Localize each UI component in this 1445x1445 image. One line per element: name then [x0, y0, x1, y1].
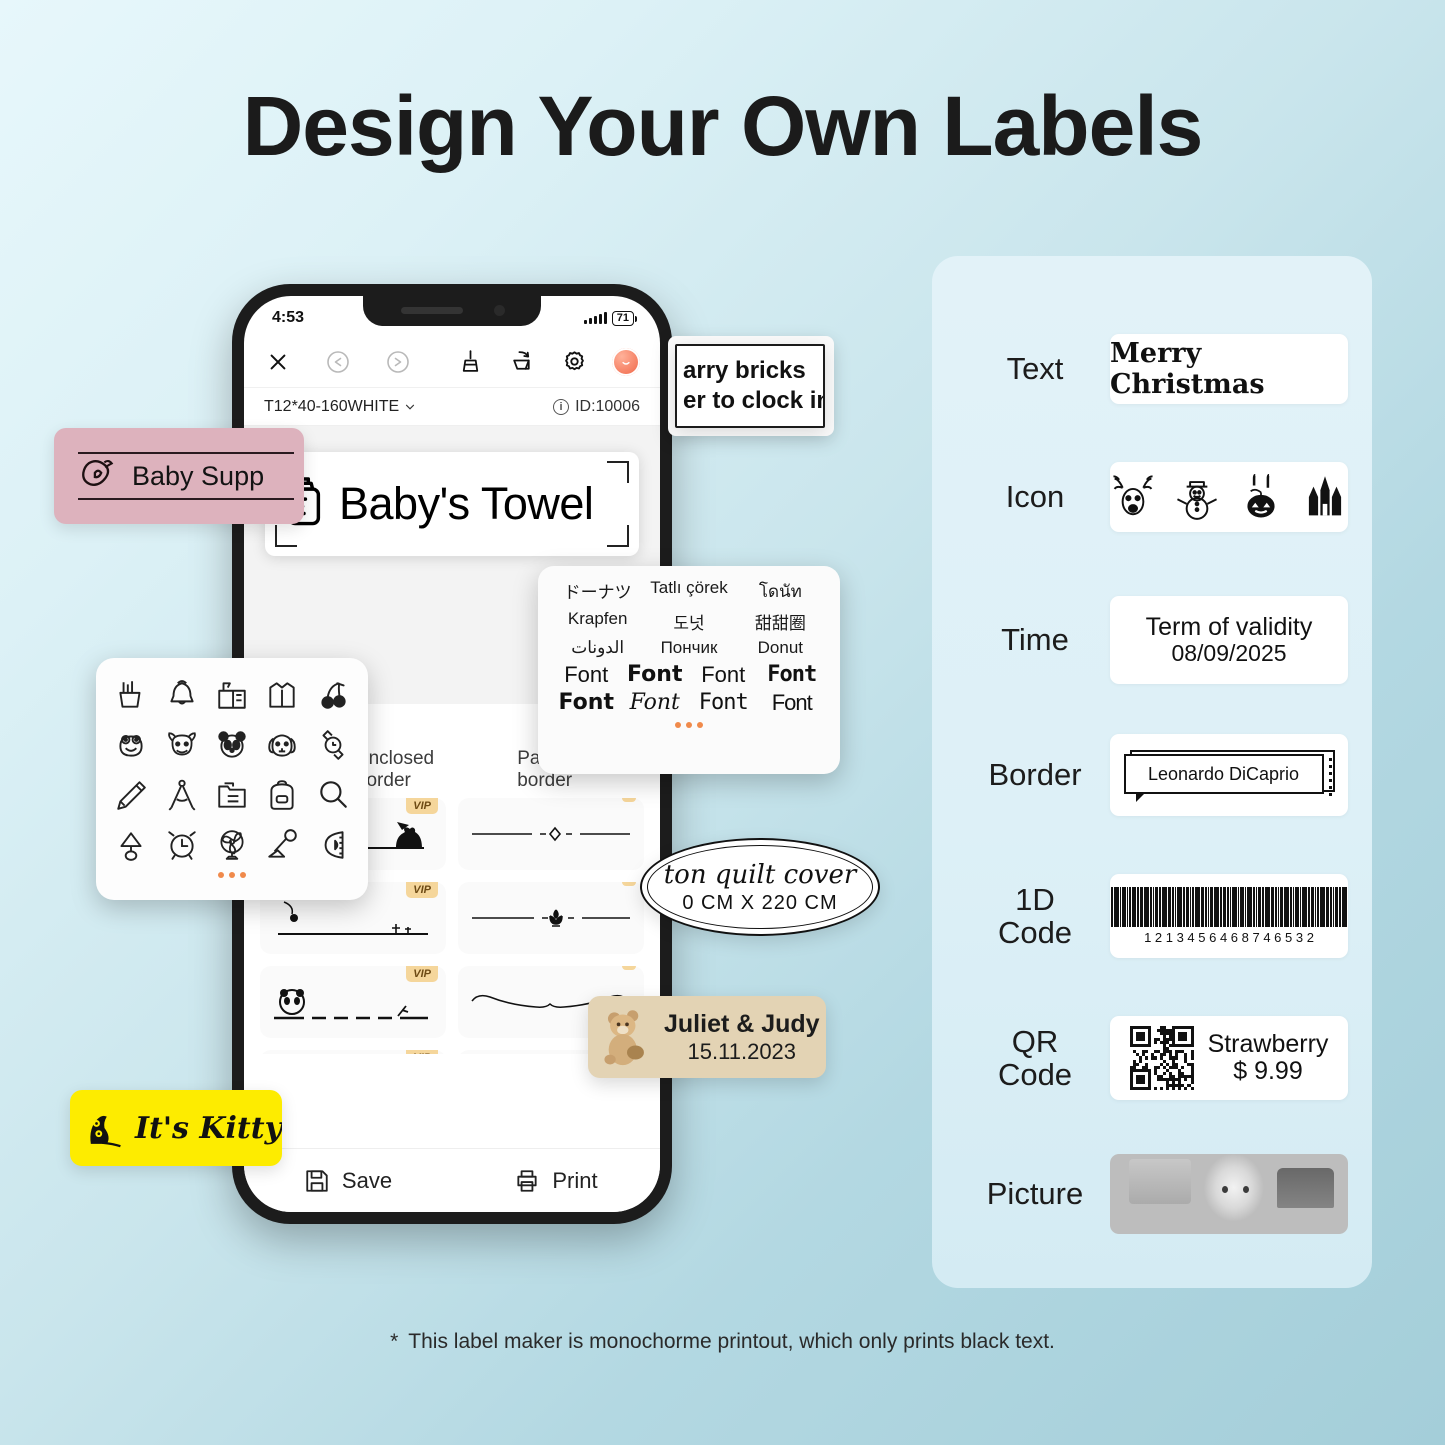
feature-label-icon: Icon	[960, 480, 1110, 513]
font-language-samples: ドーナツ Tatlı çörek โดนัท Krapfen 도넛 甜甜圈 ال…	[552, 578, 826, 658]
font-style-sample[interactable]: Font	[621, 690, 690, 716]
file-folder-icon[interactable]	[209, 772, 255, 818]
vip-badge: VIP	[406, 798, 438, 814]
kitten-photo	[1110, 1154, 1348, 1234]
crop-corner-icon	[607, 461, 629, 483]
barcode-sample: 1 2 1 3 4 5 6 4 6 8 7 4 6 5 3 2	[1111, 887, 1346, 945]
feature-row-picture: Picture	[960, 1154, 1348, 1234]
smiley-icon[interactable]	[612, 348, 640, 376]
font-style-sample[interactable]: Font	[689, 662, 758, 688]
pen-holder-icon[interactable]	[108, 672, 154, 718]
crop-corner-icon	[275, 525, 297, 547]
sticker-baby-text: Baby Supp	[132, 461, 264, 492]
feature-chip-picture	[1110, 1154, 1348, 1234]
close-icon[interactable]	[264, 348, 292, 376]
phone-notch	[363, 296, 541, 326]
font-style-sample[interactable]: Font	[758, 662, 827, 688]
feature-chip-time: Term of validity 08/09/2025	[1110, 596, 1348, 684]
front-camera-icon	[494, 305, 505, 316]
spider-grave-line-icon	[268, 896, 438, 940]
label-preview-card[interactable]: Baby's Towel	[265, 452, 639, 556]
qr-product-name: Strawberry	[1208, 1031, 1329, 1059]
protractor-icon[interactable]	[310, 822, 356, 868]
sticker-rule-bottom	[78, 498, 294, 500]
feature-label-time: Time	[960, 623, 1110, 656]
editor-toolbar	[244, 336, 660, 388]
feature-label-picture: Picture	[960, 1177, 1110, 1210]
redo-icon[interactable]	[384, 348, 412, 376]
feature-label-1d-code: 1D Code	[960, 883, 1110, 950]
font-lang-sample[interactable]: โดนัท	[735, 578, 826, 605]
template-item[interactable]: VIP	[260, 966, 446, 1038]
magnifier-icon[interactable]	[310, 772, 356, 818]
cherry-icon[interactable]	[310, 672, 356, 718]
vip-badge	[622, 798, 636, 802]
font-style-sample[interactable]: Font	[689, 690, 758, 716]
backpack-icon[interactable]	[259, 772, 305, 818]
save-button[interactable]: Save	[244, 1168, 452, 1194]
qr-product-price: $ 9.99	[1233, 1058, 1303, 1086]
speech-tail-icon	[1136, 793, 1145, 802]
template-item[interactable]: VIP	[260, 1050, 446, 1054]
dog-icon[interactable]	[259, 722, 305, 768]
sticker-clock-in: arry bricks er to clock in	[675, 344, 825, 428]
sticker-baby-supplies: Baby Supp	[54, 428, 304, 524]
feature-label-qr-code: QR Code	[960, 1025, 1110, 1092]
editor-bottom-bar: Save Print	[244, 1148, 660, 1212]
footer-note: *This label maker is monochorme printout…	[0, 1330, 1445, 1354]
tape-model-label: T12*40-160WHITE	[264, 398, 399, 416]
sticker-quilt-line2: 0 CM X 220 CM	[682, 892, 837, 915]
qr-code-image	[1130, 1026, 1194, 1090]
table-lamp-icon[interactable]	[108, 822, 154, 868]
footer-note-text: This label maker is monochorme printout,…	[408, 1330, 1055, 1353]
feature-label-qr-line2: Code	[998, 1057, 1072, 1092]
desk-lamp-desk-icon[interactable]	[209, 672, 255, 718]
font-lang-sample[interactable]: 도넛	[643, 609, 734, 634]
reindeer-icon	[1110, 474, 1156, 520]
sticker-kitty-text: It's Kitty	[135, 1111, 282, 1146]
haunted-castle-icon	[1302, 474, 1348, 520]
font-style-sample[interactable]: Font	[758, 690, 827, 716]
time-line1: Term of validity	[1146, 613, 1313, 641]
border-dots	[1329, 758, 1332, 796]
shirt-icon[interactable]	[259, 672, 305, 718]
feature-row-text: Text Merry Christmas	[960, 334, 1348, 404]
tape-meta-row: T12*40-160WHITE i ID:10006	[244, 388, 660, 426]
feature-chip-qrcode: Strawberry $ 9.99	[1110, 1016, 1348, 1100]
sticker-quilt-cover: ton quilt cover 0 CM X 220 CM	[640, 838, 880, 936]
feature-row-time: Time Term of validity 08/09/2025	[960, 596, 1348, 684]
kitten-eye-right	[1243, 1186, 1249, 1193]
feature-row-qrcode: QR Code Strawberry $ 9.99	[960, 1016, 1348, 1100]
feature-row-barcode: 1D Code 1 2 1 3 4 5 6 4 6 8 7 4 6 5 3 2	[960, 874, 1348, 958]
tab-enclosed-border[interactable]: Enclosed border	[356, 748, 491, 792]
font-pager-dots[interactable]	[552, 722, 826, 728]
feature-label-1d-line1: 1D	[1015, 882, 1055, 917]
label-text: Baby's Towel	[339, 478, 593, 530]
sticker-clockin-line2: er to clock in	[683, 386, 823, 416]
vip-badge	[622, 966, 636, 970]
barcode-digits: 1 2 1 3 4 5 6 4 6 8 7 4 6 5 3 2	[1144, 930, 1314, 945]
device-id-label: ID:10006	[575, 398, 640, 416]
font-style-samples: Font Font Font Font Font Font Font Font	[552, 662, 826, 716]
feature-chip-border: Leonardo DiCaprio	[1110, 734, 1348, 816]
compass-icon[interactable]	[158, 772, 204, 818]
feature-label-qr-line1: QR	[1012, 1024, 1059, 1059]
feature-label-1d-line2: Code	[998, 915, 1072, 950]
sticker-juliet-judy: Juliet & Judy 15.11.2023	[588, 996, 826, 1078]
time-line2: 08/09/2025	[1171, 641, 1286, 667]
bell-icon[interactable]	[158, 672, 204, 718]
crop-corner-icon	[607, 525, 629, 547]
pencil-icon[interactable]	[108, 772, 154, 818]
printer-icon	[514, 1168, 540, 1194]
font-style-sample[interactable]: Font	[552, 662, 621, 688]
qr-text: Strawberry $ 9.99	[1208, 1031, 1329, 1086]
sticker-bear-name: Juliet & Judy	[664, 1010, 820, 1039]
text-sample: Merry Christmas	[1110, 338, 1348, 400]
speaker-icon	[401, 307, 463, 314]
save-label: Save	[342, 1168, 392, 1194]
device-id-group[interactable]: i ID:10006	[553, 398, 640, 416]
desk-lamp-icon[interactable]	[259, 822, 305, 868]
frog-icon[interactable]	[108, 722, 154, 768]
tape-selector[interactable]: T12*40-160WHITE	[264, 398, 417, 416]
feature-label-text: Text	[960, 352, 1110, 385]
watch-icon[interactable]	[310, 722, 356, 768]
baby-bib-icon	[76, 455, 118, 497]
cow-icon[interactable]	[158, 722, 204, 768]
kitten-eye-left	[1222, 1186, 1228, 1193]
signal-icon	[584, 312, 607, 324]
font-lang-sample[interactable]: Tatlı çörek	[643, 578, 734, 605]
sticker-quilt-line1: ton quilt cover	[664, 860, 857, 890]
fleur-de-lis-line-icon	[466, 903, 636, 933]
gear-icon[interactable]	[560, 348, 588, 376]
border-sample-art: Leonardo DiCaprio	[1122, 750, 1337, 800]
template-item[interactable]	[458, 798, 644, 870]
info-icon: i	[553, 399, 569, 415]
icon-picker-popup	[96, 658, 368, 900]
icon-pager-dots[interactable]	[108, 872, 356, 878]
status-time: 4:53	[272, 309, 304, 327]
vip-badge: VIP	[406, 1050, 438, 1054]
battery-icon: 71	[612, 311, 634, 326]
print-label: Print	[552, 1168, 597, 1194]
font-lang-sample[interactable]: Krapfen	[552, 609, 643, 634]
template-item[interactable]	[458, 882, 644, 954]
barcode-bars	[1111, 887, 1346, 927]
fan-icon[interactable]	[209, 822, 255, 868]
sticker-its-kitty: It's Kitty	[70, 1090, 282, 1166]
vip-badge: VIP	[406, 966, 438, 982]
snowman-icon	[1174, 474, 1220, 520]
black-cat-icon	[84, 1104, 125, 1152]
font-lang-sample[interactable]: الدونات	[552, 638, 643, 658]
broom-icon[interactable]	[456, 348, 484, 376]
sticker-bear-date: 15.11.2023	[688, 1039, 796, 1064]
font-picker-popup: ドーナツ Tatlı çörek โดนัท Krapfen 도넛 甜甜圈 ال…	[538, 566, 840, 774]
font-style-sample[interactable]: Font	[621, 662, 690, 688]
feature-chip-icon	[1110, 462, 1348, 532]
font-lang-sample[interactable]: ドーナツ	[552, 578, 643, 605]
rotate-label-icon[interactable]	[508, 348, 536, 376]
print-button[interactable]: Print	[452, 1168, 660, 1194]
font-style-sample[interactable]: Font	[552, 690, 621, 716]
feature-row-border: Border Leonardo DiCaprio	[960, 734, 1348, 816]
font-lang-sample[interactable]: Пончик	[643, 638, 734, 658]
pumpkin-candles-icon	[1238, 474, 1284, 520]
sticker-rule-top	[78, 452, 294, 454]
page-title: Design Your Own Labels	[0, 78, 1445, 175]
vip-badge: VIP	[406, 882, 438, 898]
panda-icon[interactable]	[209, 722, 255, 768]
status-indicators: 71	[584, 311, 634, 326]
alarm-clock-icon[interactable]	[158, 822, 204, 868]
feature-row-icon: Icon	[960, 462, 1348, 532]
font-lang-sample[interactable]: Donut	[735, 638, 826, 658]
sticker-bear-text: Juliet & Judy 15.11.2023	[664, 1010, 820, 1064]
panda-bamboo-line-icon	[268, 980, 438, 1024]
footer-asterisk: *	[390, 1330, 398, 1353]
dash-diamond-line-icon	[466, 819, 636, 849]
undo-icon[interactable]	[324, 348, 352, 376]
feature-panel: Text Merry Christmas Icon	[932, 256, 1372, 1288]
feature-chip-text: Merry Christmas	[1110, 334, 1348, 404]
icon-picker-grid	[108, 672, 356, 868]
font-lang-sample[interactable]: 甜甜圈	[735, 609, 826, 634]
feature-label-border: Border	[960, 758, 1110, 791]
border-sample-text: Leonardo DiCaprio	[1124, 754, 1324, 794]
sticker-clockin-line1: arry bricks	[683, 356, 823, 386]
floppy-disk-icon	[304, 1168, 330, 1194]
vip-badge	[622, 882, 636, 886]
feature-chip-barcode: 1 2 1 3 4 5 6 4 6 8 7 4 6 5 3 2	[1110, 874, 1348, 958]
chevron-down-icon	[403, 400, 417, 414]
teddy-bear-icon	[598, 1006, 656, 1068]
